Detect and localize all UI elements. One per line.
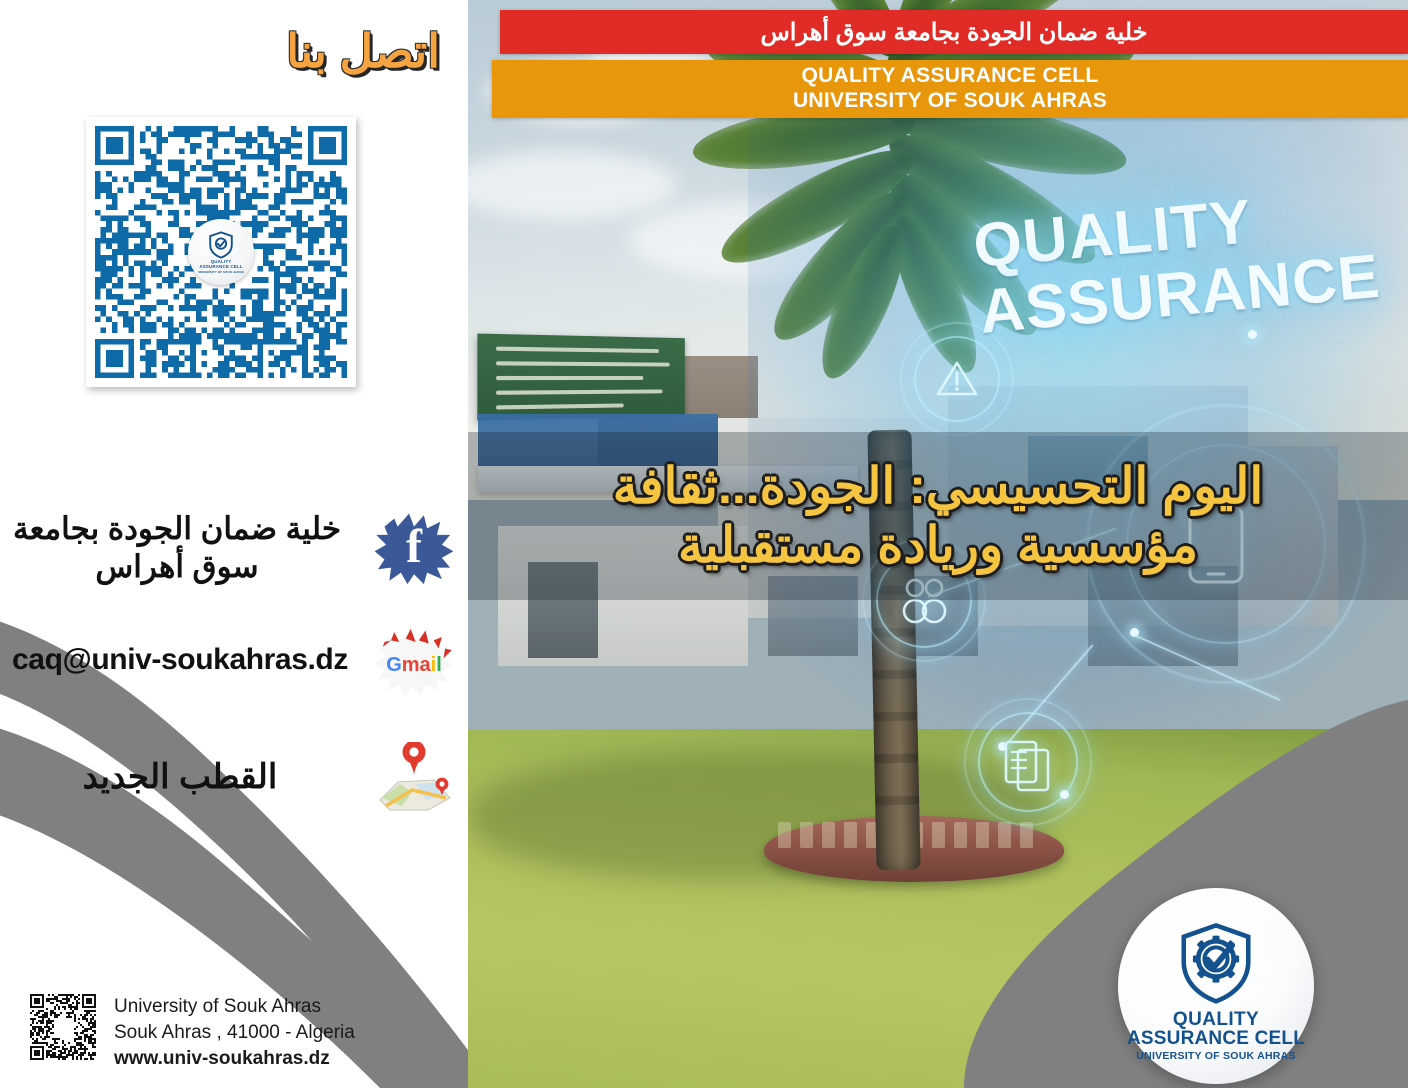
facebook-icon: f [373,510,455,586]
facebook-f-glyph: f [406,523,422,571]
tech-node [1060,790,1069,799]
contact-row-location[interactable]: القطب الجديد [0,725,468,830]
event-main-title: اليوم التحسيسي: الجودة...ثقافة مؤسسية ور… [468,436,1408,596]
tech-node [1248,330,1257,339]
qr-code-small[interactable] [30,994,96,1060]
contact-facebook-label: خلية ضمان الجودة بجامعة سوق أهراس [0,510,360,586]
contact-us-heading: اتصل بنا [286,24,440,78]
green-notice-sign [477,334,684,421]
campus-photo-panel: QUALITY ASSURANCE [468,0,1408,1088]
qr-code-small-canvas [30,994,96,1060]
event-title-line2: مؤسسية وريادة مستقبلية [678,516,1198,575]
logo-title-quality: QUALITY [1173,1010,1259,1029]
contact-location-label: القطب الجديد [0,757,360,798]
gmail-icon-wrap[interactable]: Gmail [360,622,468,698]
campus-photo: QUALITY ASSURANCE [468,0,1408,1088]
contact-rows: خلية ضمان الجودة بجامعة سوق أهراس f caq@… [0,500,468,830]
footer-line-university: University of Souk Ahras [114,994,355,1020]
qr-code-large[interactable]: QUALITY ASSURANCE CELL UNIVERSITY OF SOU… [86,117,356,387]
poster-page: اتصل بنا QUALITY ASSURANCE CELL UNIVERSI… [0,0,1408,1088]
gmail-icon: Gmail [373,622,455,698]
logo-subtitle-university: UNIVERSITY OF SOUK AHRAS [1136,1050,1295,1062]
footer-line-website: www.univ-soukahras.dz [114,1046,355,1072]
map-pin-icon [372,742,456,814]
facebook-icon-wrap[interactable]: f [360,510,468,586]
contact-row-email[interactable]: caq@univ-soukahras.dz Gmail [0,595,468,725]
documents-icon [1002,736,1054,797]
header-banner-arabic: خلية ضمان الجودة بجامعة سوق أهراس [500,10,1408,54]
warning-triangle-icon [934,356,980,407]
logo-title-assurance-cell: ASSURANCE CELL [1127,1029,1305,1048]
header-banner-english: QUALITY ASSURANCE CELL UNIVERSITY OF SOU… [492,60,1408,118]
map-pin-icon-wrap[interactable] [360,742,468,814]
qr-logo-subtitle: UNIVERSITY OF SOUK AHRAS [198,270,244,274]
shield-gear-check-icon [1173,920,1259,1006]
contact-row-facebook[interactable]: خلية ضمان الجودة بجامعة سوق أهراس f [0,500,468,595]
shield-gear-check-icon-mini [206,230,236,260]
event-title-line1: اليوم التحسيسي: الجودة...ثقافة [613,457,1263,516]
footer-address-block: University of Souk Ahras Souk Ahras , 41… [30,994,355,1072]
footer-line-address: Souk Ahras , 41000 - Algeria [114,1020,355,1046]
gmail-wordmark: Gmail [386,655,442,675]
header-banner-line2: UNIVERSITY OF SOUK AHRAS [793,89,1107,114]
qr-embedded-logo: QUALITY ASSURANCE CELL UNIVERSITY OF SOU… [188,219,254,285]
quality-assurance-cell-logo: QUALITY ASSURANCE CELL UNIVERSITY OF SOU… [1118,888,1314,1084]
contact-email-label: caq@univ-soukahras.dz [0,642,360,679]
header-banner-line1: QUALITY ASSURANCE CELL [801,64,1098,89]
left-contact-panel: اتصل بنا QUALITY ASSURANCE CELL UNIVERSI… [0,0,468,1088]
